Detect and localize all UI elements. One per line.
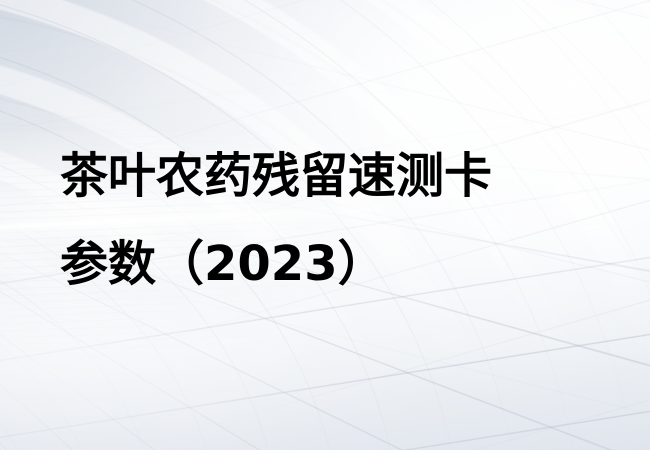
page-title: 茶叶农药残留速测卡 参数（2023） — [60, 132, 620, 308]
title-line-secondary: 参数（2023） — [60, 220, 620, 308]
title-line-primary: 茶叶农药残留速测卡 — [60, 132, 620, 220]
title-banner: 茶叶农药残留速测卡 参数（2023） — [0, 0, 650, 450]
